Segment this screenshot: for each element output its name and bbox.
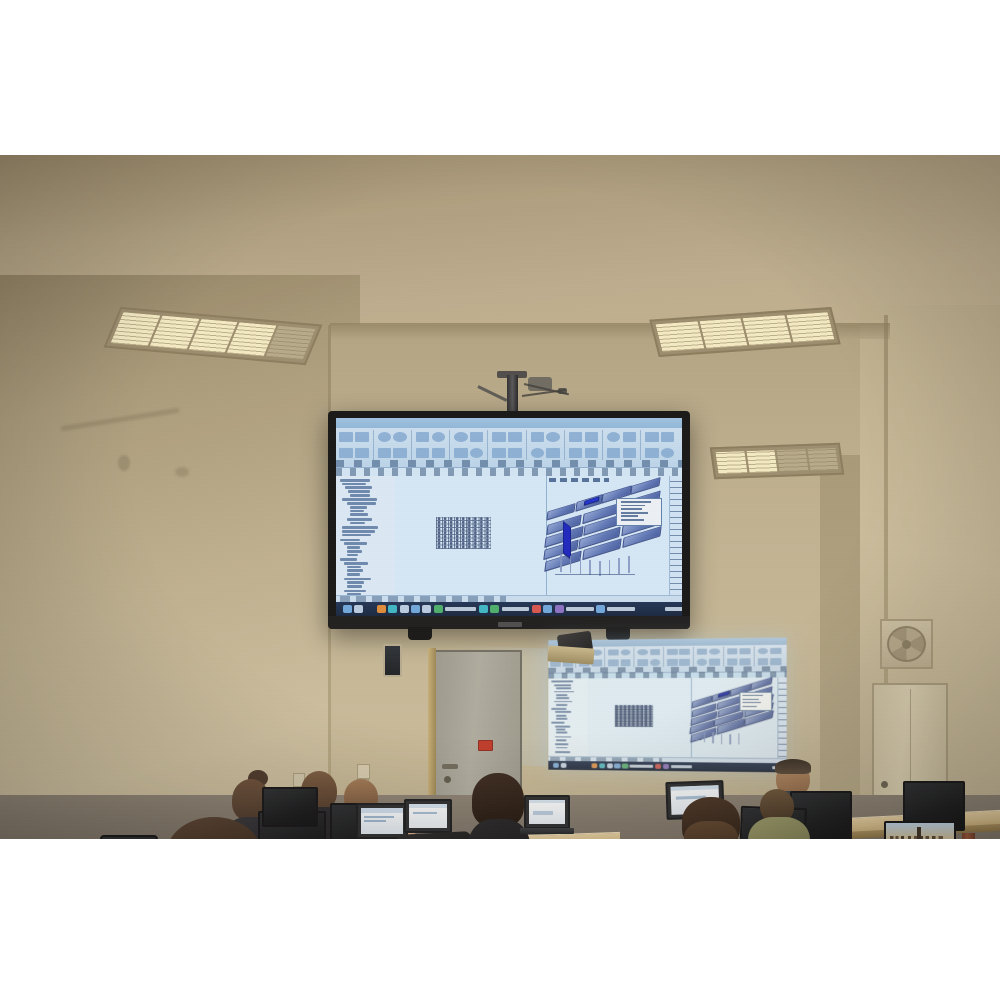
laptop-screen[interactable]	[361, 808, 403, 834]
wall-speaker	[383, 644, 402, 677]
laptop-screen[interactable]	[529, 800, 565, 824]
taskbar-window-label[interactable]	[445, 607, 476, 611]
photograph	[0, 155, 1000, 839]
ribbon-group-container	[339, 430, 678, 460]
app-icon-red[interactable]	[532, 605, 541, 613]
projector-mount-arm	[547, 645, 594, 664]
projected-model-tree	[548, 678, 588, 761]
laptop-lid	[524, 795, 570, 829]
head	[684, 821, 738, 839]
system-tray[interactable]	[665, 607, 682, 611]
ribbon-tab-strip[interactable]	[336, 460, 682, 467]
app-icon-purple[interactable]	[555, 605, 564, 613]
display-foot-right	[606, 627, 630, 640]
laptop-door-side[interactable]	[524, 795, 570, 829]
app-icon-teal[interactable]	[388, 605, 397, 613]
wall-scuff-mark	[175, 467, 189, 477]
power-outlet	[357, 764, 370, 779]
image-frame	[0, 0, 1000, 1000]
cad-title-bar	[336, 418, 682, 428]
laptop-keyboard-base[interactable]	[520, 828, 574, 834]
cad-viewport[interactable]	[395, 476, 670, 602]
door-handle[interactable]	[442, 764, 458, 769]
monitor-city-photo[interactable]	[884, 821, 956, 839]
laptop-lid	[404, 799, 452, 833]
exhaust-fan	[880, 619, 933, 669]
display-screen[interactable]	[336, 418, 682, 616]
cad-model-tree[interactable]	[336, 476, 396, 602]
laptop-lid	[356, 803, 408, 839]
laptop-mid-center[interactable]	[356, 803, 408, 839]
ribbon-group[interactable]	[492, 430, 526, 460]
ribbon-group[interactable]	[378, 430, 412, 460]
ribbon-group[interactable]	[531, 430, 565, 460]
app-icon-grey[interactable]	[400, 605, 409, 613]
app-icon-light[interactable]	[422, 605, 431, 613]
search-icon[interactable]	[354, 605, 363, 613]
projected-viewport	[587, 677, 778, 762]
app-icon-green[interactable]	[490, 605, 499, 613]
app-icon-blue[interactable]	[596, 605, 605, 613]
student-right-front	[658, 797, 762, 839]
file-explorer-icon[interactable]	[377, 605, 386, 613]
model-tooltip	[616, 498, 662, 526]
taskbar-window-label[interactable]	[607, 607, 635, 611]
cad-application[interactable]	[336, 418, 682, 616]
ribbon-group[interactable]	[569, 430, 603, 460]
monitor-screen[interactable]	[884, 821, 956, 839]
ribbon-group[interactable]	[645, 430, 678, 460]
desk-leg	[962, 833, 975, 839]
start-icon[interactable]	[343, 605, 352, 613]
city-tower-art	[917, 827, 920, 839]
plan-view-drawing[interactable]	[436, 517, 491, 550]
cad-ribbon[interactable]	[336, 428, 682, 469]
taskbar-window-label[interactable]	[566, 607, 594, 611]
student-front-center	[118, 817, 348, 839]
laptop-mid-right[interactable]	[404, 799, 452, 833]
wall-mounted-display[interactable]	[328, 411, 690, 629]
fan-hub	[902, 640, 911, 649]
projected-building-model	[689, 681, 774, 749]
projected-scale-panel	[777, 677, 787, 763]
ribbon-group[interactable]	[454, 430, 488, 460]
display-brand-logo	[498, 622, 522, 627]
app-icon-cyan[interactable]	[479, 605, 488, 613]
app-icon-blue[interactable]	[411, 605, 420, 613]
ribbon-group[interactable]	[607, 430, 641, 460]
fire-alarm	[478, 740, 493, 751]
door-lock-icon	[444, 776, 451, 783]
cad-right-scale-panel	[669, 476, 682, 602]
cad-status-bar	[336, 595, 682, 602]
app-icon-blue[interactable]	[543, 605, 552, 613]
taskbar-window-label[interactable]	[502, 607, 530, 611]
ribbon-group[interactable]	[416, 430, 450, 460]
windows-taskbar[interactable]	[336, 602, 682, 616]
display-foot-left	[408, 627, 432, 640]
instructor-hair	[775, 759, 811, 774]
hair	[166, 817, 262, 839]
projected-window-title	[641, 638, 737, 639]
wall-scuff-mark	[118, 455, 130, 471]
app-icon-green[interactable]	[434, 605, 443, 613]
ceiling-light-right-rear	[710, 443, 844, 479]
laptop-screen[interactable]	[409, 804, 447, 828]
building-3d-model[interactable]	[543, 481, 664, 582]
projected-plan-view	[615, 705, 652, 727]
door-knob[interactable]	[881, 781, 888, 788]
ribbon-group[interactable]	[339, 430, 373, 460]
display-bezel-bottom	[328, 616, 690, 629]
projected-tooltip	[739, 692, 772, 712]
model-highlight-wall	[563, 521, 571, 559]
